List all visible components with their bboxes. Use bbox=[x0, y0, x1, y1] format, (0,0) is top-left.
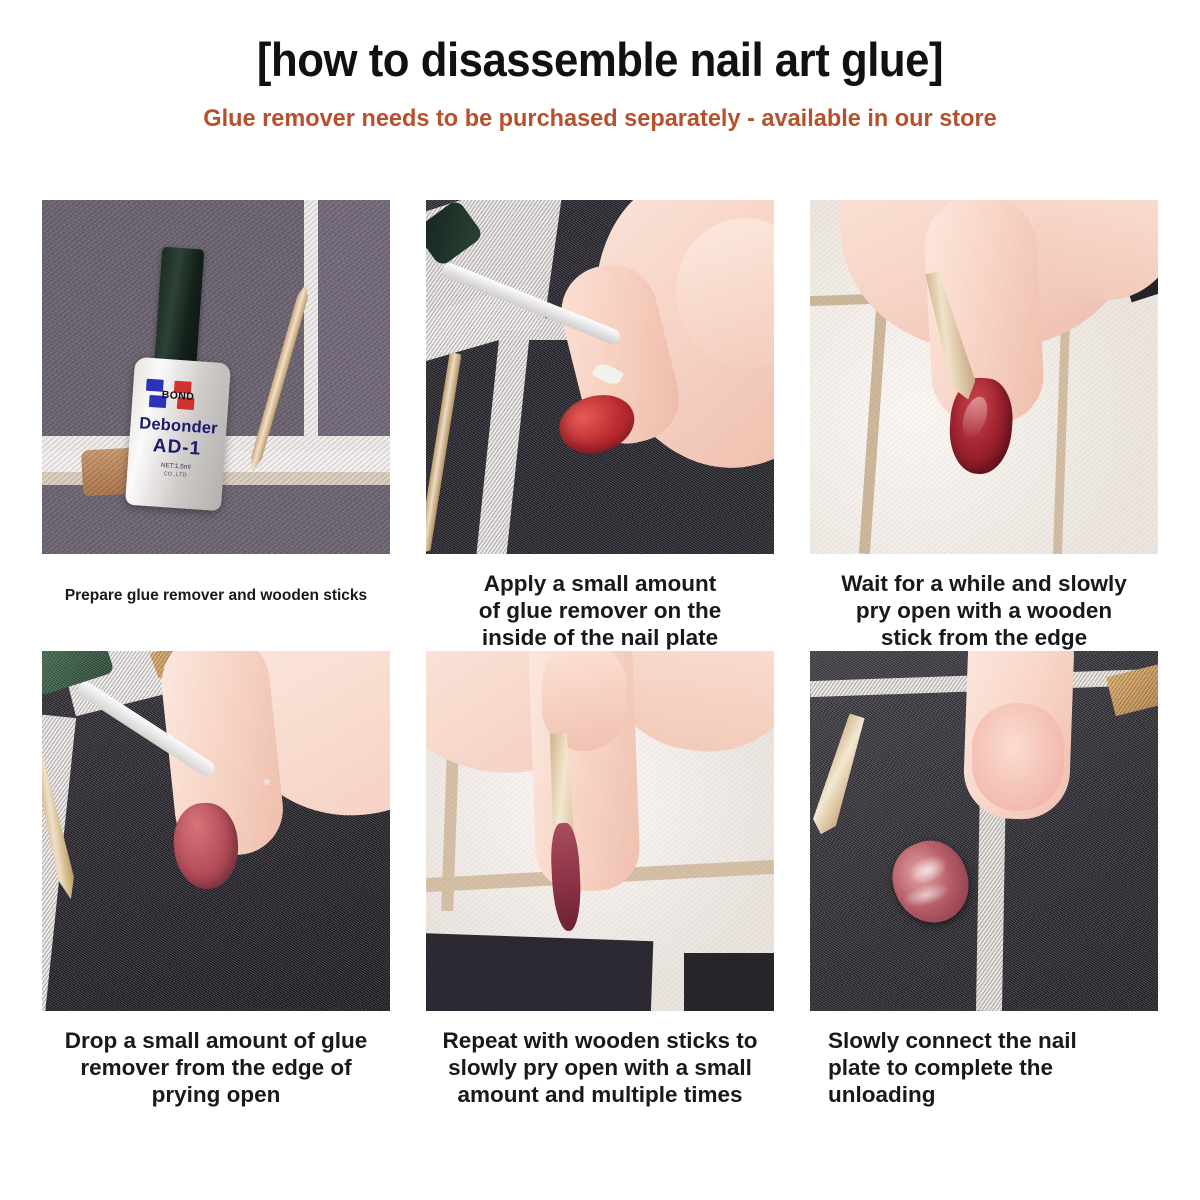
step-photo-4 bbox=[42, 651, 390, 1011]
product-code-text: AD-1 bbox=[133, 434, 220, 462]
caption-line: amount and multiple times bbox=[428, 1082, 772, 1109]
step-caption-2: Apply a small amount of glue remover on … bbox=[426, 571, 774, 651]
label-flag-marks: BOND bbox=[136, 375, 224, 417]
tile-seam-vertical bbox=[304, 200, 318, 450]
leather-tile-right bbox=[317, 200, 390, 436]
step-photo-3 bbox=[810, 200, 1158, 554]
step-photo-2 bbox=[426, 200, 774, 554]
step-caption-3: Wait for a while and slowly pry open wit… bbox=[810, 571, 1158, 651]
brand-text: BOND bbox=[161, 389, 194, 403]
caption-line: slowly pry open with a small bbox=[428, 1055, 772, 1082]
caption-line: inside of the nail plate bbox=[428, 625, 772, 652]
dark-patch-bottom-right bbox=[684, 953, 774, 1011]
caption-line: unloading bbox=[828, 1082, 1156, 1109]
caption-line: Wait for a while and slowly bbox=[812, 571, 1156, 598]
step-card-6: Slowly connect the nail plate to complet… bbox=[810, 651, 1158, 1108]
bottle-cap bbox=[154, 247, 205, 376]
page-title: [how to disassemble nail art glue] bbox=[42, 34, 1158, 86]
steps-row-1: BOND Debonder AD-1 NET:1.5ml CO.,LTD Pre… bbox=[0, 200, 1200, 651]
step-card-4: Drop a small amount of glue remover from… bbox=[42, 651, 390, 1108]
step-card-3: Wait for a while and slowly pry open wit… bbox=[810, 200, 1158, 651]
step-card-5: Repeat with wooden sticks to slowly pry … bbox=[426, 651, 774, 1108]
step-caption-5: Repeat with wooden sticks to slowly pry … bbox=[426, 1028, 774, 1108]
step-caption-1: Prepare glue remover and wooden sticks bbox=[42, 587, 390, 605]
caption-line: Repeat with wooden sticks to bbox=[428, 1028, 772, 1055]
caption-line: remover from the edge of bbox=[44, 1055, 388, 1082]
step-photo-5 bbox=[426, 651, 774, 1011]
step-card-2: Apply a small amount of glue remover on … bbox=[426, 200, 774, 651]
dark-patch-bottom-left bbox=[426, 933, 653, 1011]
step-caption-6: Slowly connect the nail plate to complet… bbox=[810, 1028, 1158, 1108]
infographic-header: [how to disassemble nail art glue] Glue … bbox=[0, 0, 1200, 133]
caption-line: prying open bbox=[44, 1082, 388, 1109]
step-card-1: BOND Debonder AD-1 NET:1.5ml CO.,LTD Pre… bbox=[42, 200, 390, 651]
fingertip bbox=[972, 703, 1064, 811]
bottle-label: BOND Debonder AD-1 NET:1.5ml CO.,LTD bbox=[131, 375, 225, 499]
step-photo-6 bbox=[810, 651, 1158, 1011]
step-caption-4: Drop a small amount of glue remover from… bbox=[42, 1028, 390, 1108]
caption-line: stick from the edge bbox=[812, 625, 1156, 652]
step-photo-1: BOND Debonder AD-1 NET:1.5ml CO.,LTD bbox=[42, 200, 390, 554]
steps-grid: BOND Debonder AD-1 NET:1.5ml CO.,LTD Pre… bbox=[0, 200, 1200, 1109]
page-subtitle: Glue remover needs to be purchased separ… bbox=[24, 106, 1176, 133]
glue-remover-bottle: BOND Debonder AD-1 NET:1.5ml CO.,LTD bbox=[125, 357, 231, 511]
caption-line: Slowly connect the nail bbox=[828, 1028, 1156, 1055]
caption-line: Apply a small amount bbox=[428, 571, 772, 598]
steps-row-2: Drop a small amount of glue remover from… bbox=[0, 651, 1200, 1108]
caption-line: of glue remover on the bbox=[428, 598, 772, 625]
caption-line: plate to complete the bbox=[828, 1055, 1156, 1082]
caption-line: pry open with a wooden bbox=[812, 598, 1156, 625]
caption-line: Drop a small amount of glue bbox=[44, 1028, 388, 1055]
